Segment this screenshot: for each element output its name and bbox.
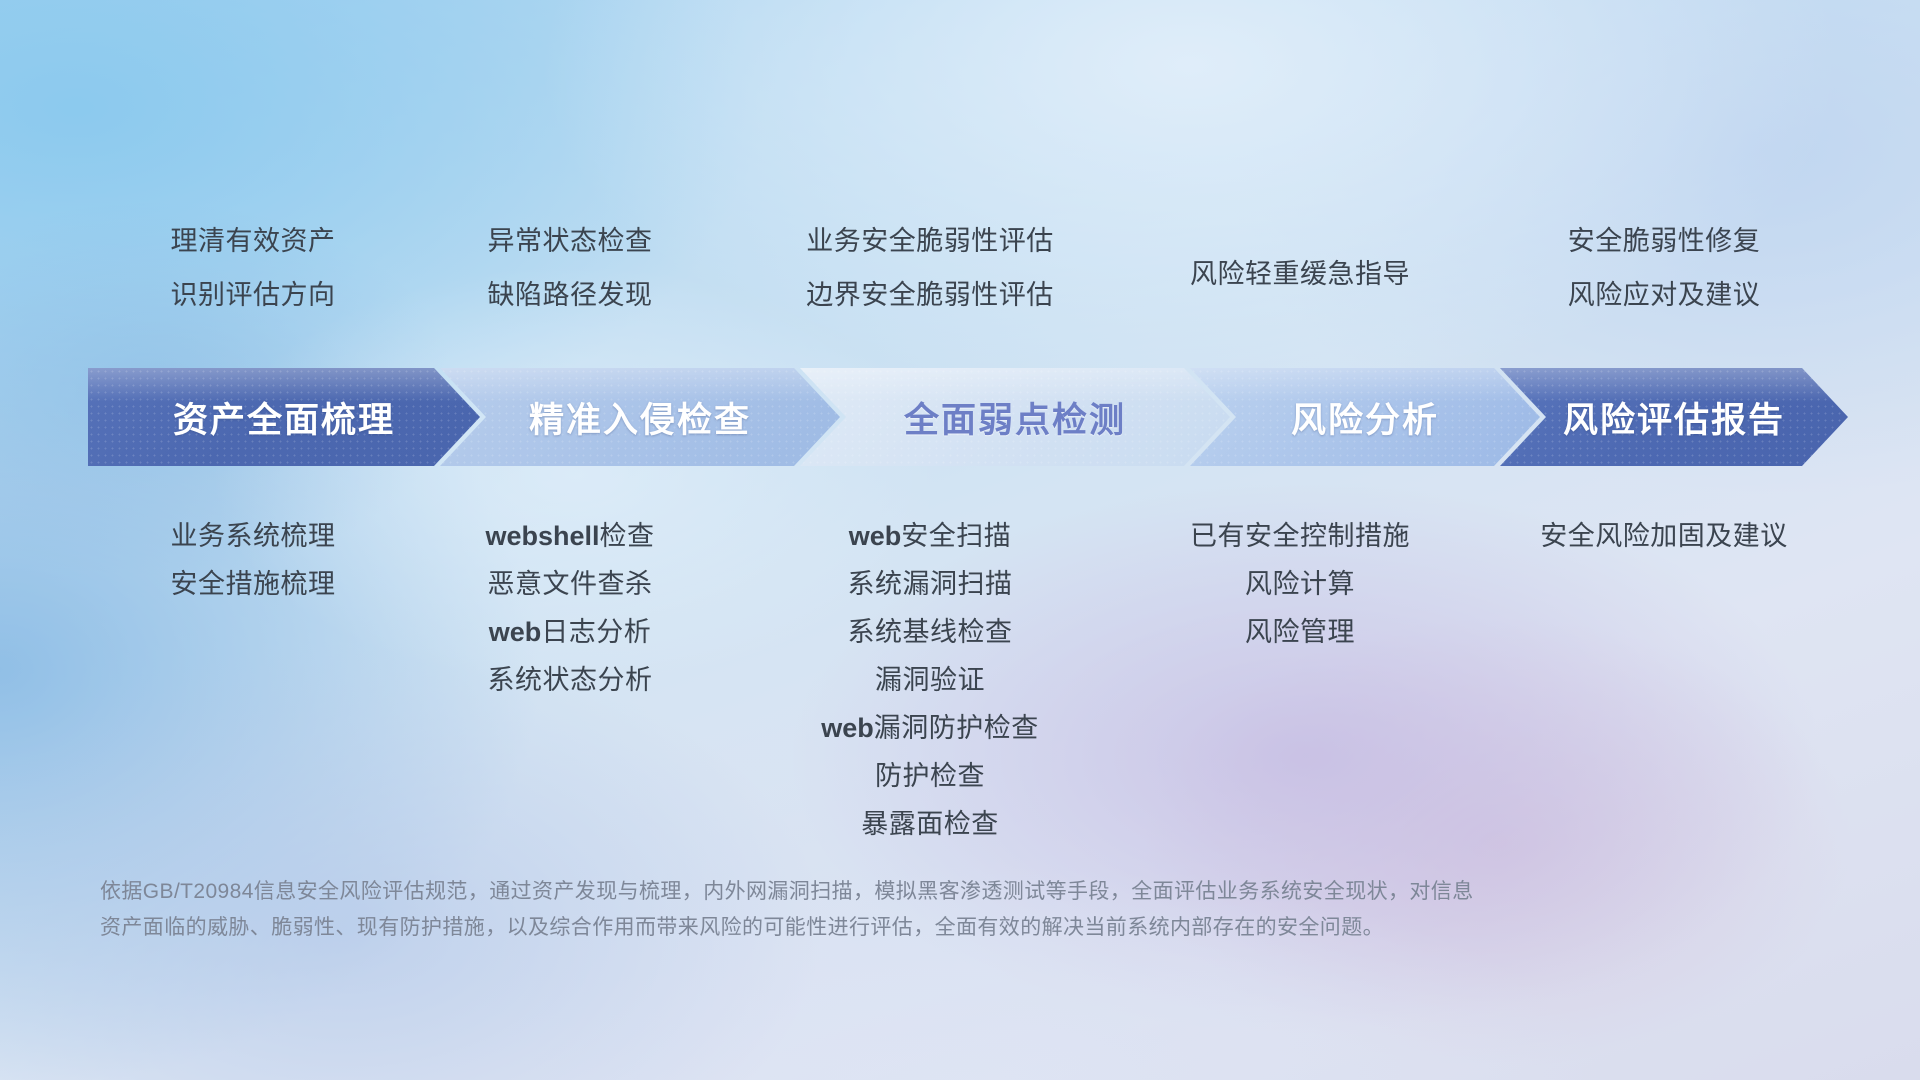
stage-chevron-intrusion-check[interactable]: 精准入侵检查 xyxy=(440,368,840,466)
stage-chevron-banner: 资产全面梳理精准入侵检查全面弱点检测风险分析风险评估报告 xyxy=(88,368,1848,466)
stage-chevron-weakness-detection[interactable]: 全面弱点检测 xyxy=(800,368,1230,466)
stage-chevron-assessment-report[interactable]: 风险评估报告 xyxy=(1500,368,1848,466)
top-label-item: 风险轻重缓急指导 xyxy=(1130,247,1470,301)
top-label-item: 异常状态检查 xyxy=(400,214,740,268)
process-diagram: 理清有效资产识别评估方向异常状态检查缺陷路径发现业务安全脆弱性评估边界安全脆弱性… xyxy=(0,0,1920,1080)
bottom-label-item: web安全扫描 xyxy=(730,512,1130,560)
top-label-item: 识别评估方向 xyxy=(88,268,418,322)
bottom-labels-assessment-report: 安全风险加固及建议 xyxy=(1480,512,1848,560)
bottom-label-latin: webshell xyxy=(485,521,599,551)
bottom-label-item: webshell检查 xyxy=(400,512,740,560)
top-labels-asset-inventory: 理清有效资产识别评估方向 xyxy=(88,214,418,322)
bottom-labels-asset-inventory: 业务系统梳理安全措施梳理 xyxy=(88,512,418,608)
bottom-label-item: 已有安全控制措施 xyxy=(1130,512,1470,560)
bottom-label-item: 系统漏洞扫描 xyxy=(730,560,1130,608)
bottom-label-latin: web xyxy=(489,617,542,647)
footer-description: 依据GB/T20984信息安全风险评估规范，通过资产发现与梳理，内外网漏洞扫描，… xyxy=(100,874,1660,946)
bottom-labels-risk-analysis: 已有安全控制措施风险计算风险管理 xyxy=(1130,512,1470,656)
top-labels-risk-analysis: 风险轻重缓急指导 xyxy=(1130,214,1470,334)
bottom-label-latin: web xyxy=(849,521,902,551)
bottom-label-item: 防护检查 xyxy=(730,752,1130,800)
top-labels-weakness-detection: 业务安全脆弱性评估边界安全脆弱性评估 xyxy=(730,214,1130,322)
footer-line-2: 资产面临的威胁、脆弱性、现有防护措施，以及综合作用而带来风险的可能性进行评估，全… xyxy=(100,910,1660,946)
stage-chevron-risk-analysis[interactable]: 风险分析 xyxy=(1190,368,1540,466)
top-labels-assessment-report: 安全脆弱性修复风险应对及建议 xyxy=(1480,214,1848,322)
bottom-label-cjk: 安全扫描 xyxy=(901,521,1011,551)
bottom-label-item: 暴露面检查 xyxy=(730,800,1130,848)
top-label-item: 风险应对及建议 xyxy=(1480,268,1848,322)
top-label-item: 业务安全脆弱性评估 xyxy=(730,214,1130,268)
top-label-item: 安全脆弱性修复 xyxy=(1480,214,1848,268)
top-labels-row: 理清有效资产识别评估方向异常状态检查缺陷路径发现业务安全脆弱性评估边界安全脆弱性… xyxy=(0,214,1920,334)
top-label-item: 边界安全脆弱性评估 xyxy=(730,268,1130,322)
stage-title-assessment-report: 风险评估报告 xyxy=(1563,392,1785,443)
bottom-labels-intrusion-check: webshell检查恶意文件查杀web日志分析系统状态分析 xyxy=(400,512,740,704)
bottom-labels-weakness-detection: web安全扫描系统漏洞扫描系统基线检查漏洞验证web漏洞防护检查防护检查暴露面检… xyxy=(730,512,1130,848)
bottom-label-latin: web xyxy=(821,713,874,743)
bottom-label-item: 风险计算 xyxy=(1130,560,1470,608)
bottom-label-item: 恶意文件查杀 xyxy=(400,560,740,608)
bottom-label-item: 安全措施梳理 xyxy=(88,560,418,608)
bottom-label-item: web漏洞防护检查 xyxy=(730,704,1130,752)
stage-title-intrusion-check: 精准入侵检查 xyxy=(529,392,751,443)
stage-title-asset-inventory: 资产全面梳理 xyxy=(173,392,395,443)
top-label-item: 理清有效资产 xyxy=(88,214,418,268)
bottom-label-cjk: 检查 xyxy=(600,521,655,551)
bottom-label-item: 业务系统梳理 xyxy=(88,512,418,560)
stage-title-risk-analysis: 风险分析 xyxy=(1291,392,1439,443)
footer-line-1: 依据GB/T20984信息安全风险评估规范，通过资产发现与梳理，内外网漏洞扫描，… xyxy=(100,874,1660,910)
bottom-label-item: web日志分析 xyxy=(400,608,740,656)
bottom-label-cjk: 日志分析 xyxy=(541,617,651,647)
top-label-item: 缺陷路径发现 xyxy=(400,268,740,322)
bottom-label-item: 风险管理 xyxy=(1130,608,1470,656)
bottom-label-item: 系统基线检查 xyxy=(730,608,1130,656)
bottom-label-item: 系统状态分析 xyxy=(400,656,740,704)
top-labels-intrusion-check: 异常状态检查缺陷路径发现 xyxy=(400,214,740,322)
bottom-label-cjk: 漏洞防护检查 xyxy=(874,713,1039,743)
bottom-label-item: 安全风险加固及建议 xyxy=(1480,512,1848,560)
bottom-label-item: 漏洞验证 xyxy=(730,656,1130,704)
stage-chevron-asset-inventory[interactable]: 资产全面梳理 xyxy=(88,368,480,466)
stage-title-weakness-detection: 全面弱点检测 xyxy=(904,392,1126,443)
